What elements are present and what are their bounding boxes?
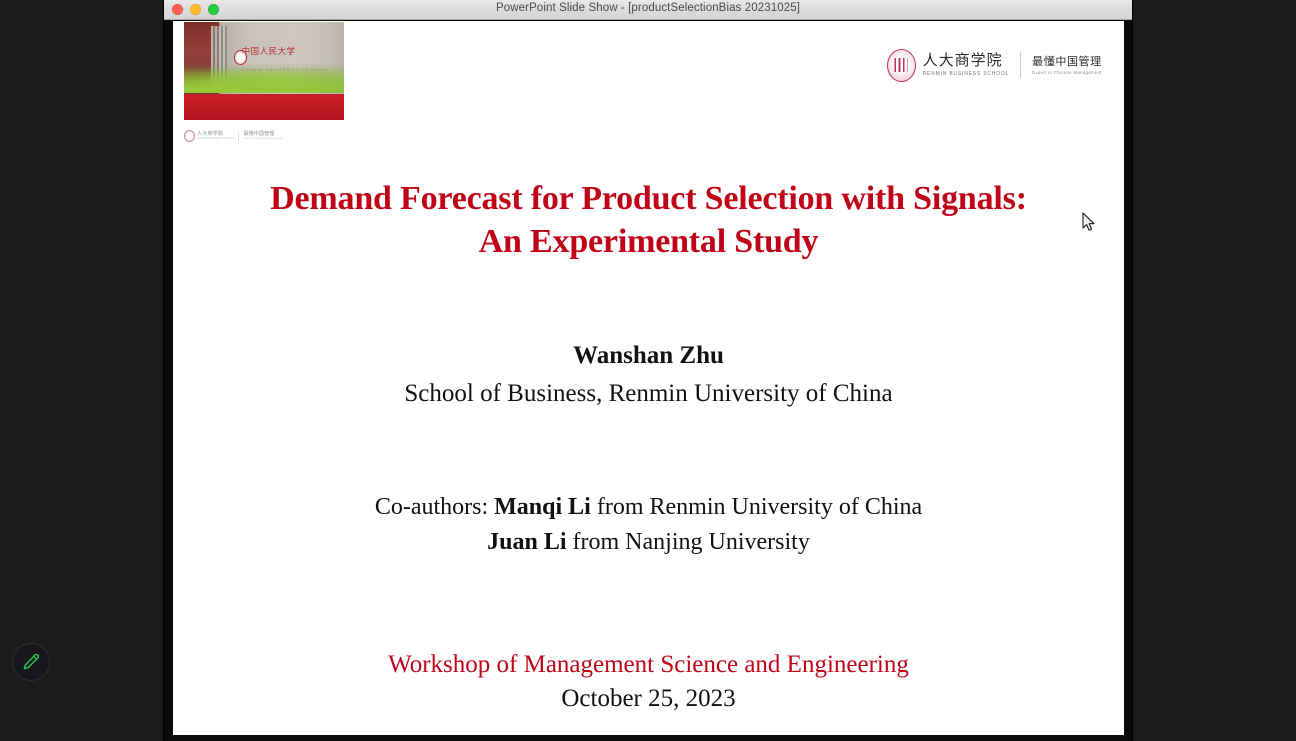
slide-title-line-2: An Experimental Study: [173, 220, 1124, 263]
coauthor-1-affiliation: from Renmin University of China: [597, 494, 922, 520]
renmin-gate-photo: 中国人民大学 RENMIN UNIVERSITY OF CHINA: [184, 22, 344, 120]
coauthors-label: Co-authors:: [375, 494, 488, 520]
window-body: 中国人民大学 RENMIN UNIVERSITY OF CHINA 人大商学院 …: [164, 20, 1132, 741]
mini-seal-icon: [184, 130, 195, 142]
brand-tagline-block: 最懂中国管理 Expert in Chinese Management: [1032, 56, 1102, 75]
window-title: PowerPoint Slide Show - [productSelectio…: [164, 2, 1132, 14]
venue-name: Workshop of Management Science and Engin…: [173, 648, 1124, 682]
brand-name-en: RENMIN BUSINESS SCHOOL: [923, 71, 1010, 77]
mini-tagline-en: Expert in Chinese Management: [243, 137, 282, 140]
slide-title: Demand Forecast for Product Selection wi…: [173, 177, 1124, 263]
photo-shrubbery: [184, 63, 344, 92]
brand-name-block: 人大商学院 RENMIN BUSINESS SCHOOL: [923, 53, 1010, 77]
mini-logo-text: 人大商学院 RENMIN BUSINESS SCHOOL: [197, 132, 234, 141]
window-titlebar[interactable]: PowerPoint Slide Show - [productSelectio…: [164, 0, 1132, 20]
coauthors-line-2: Juan Li from Nanjing University: [173, 525, 1124, 560]
brand-name-cn: 人大商学院: [923, 53, 1010, 68]
mini-logo-en: RENMIN BUSINESS SCHOOL: [197, 137, 234, 140]
presentation-slide[interactable]: 中国人民大学 RENMIN UNIVERSITY OF CHINA 人大商学院 …: [173, 21, 1124, 735]
brand-divider: [1020, 52, 1021, 78]
business-school-logo: 人大商学院 RENMIN BUSINESS SCHOOL 最懂中国管理 Expe…: [887, 47, 1102, 83]
coauthor-1-name: Manqi Li: [494, 494, 591, 520]
slide-title-line-1: Demand Forecast for Product Selection wi…: [173, 177, 1124, 220]
coauthor-2-affiliation: from Nanjing University: [573, 529, 810, 555]
coauthors-line-1: Co-authors: Manqi Li from Renmin Univers…: [173, 490, 1124, 525]
mini-logo-tagline: 最懂中国管理 Expert in Chinese Management: [243, 132, 282, 141]
mini-logo-divider: [238, 132, 239, 141]
photo-wall-chinese-text: 中国人民大学: [242, 47, 341, 58]
brand-tagline-cn: 最懂中国管理: [1032, 56, 1102, 67]
presenter-affiliation: School of Business, Renmin University of…: [173, 378, 1124, 410]
photo-red-band: [184, 94, 344, 120]
presenter-name: Wanshan Zhu: [173, 340, 1124, 372]
powerpoint-slideshow-window: PowerPoint Slide Show - [productSelectio…: [164, 0, 1132, 741]
mini-business-school-logo: 人大商学院 RENMIN BUSINESS SCHOOL 最懂中国管理 Expe…: [184, 129, 246, 143]
coauthors-block: Co-authors: Manqi Li from Renmin Univers…: [173, 490, 1124, 560]
business-school-seal-icon: [887, 49, 916, 82]
pencil-icon: [21, 652, 41, 672]
brand-tagline-en: Expert in Chinese Management: [1032, 70, 1102, 75]
venue-date: October 25, 2023: [173, 682, 1124, 716]
screen: PowerPoint Slide Show - [productSelectio…: [0, 0, 1296, 741]
annotate-pen-button[interactable]: [12, 643, 50, 681]
coauthor-2-name: Juan Li: [487, 529, 566, 555]
